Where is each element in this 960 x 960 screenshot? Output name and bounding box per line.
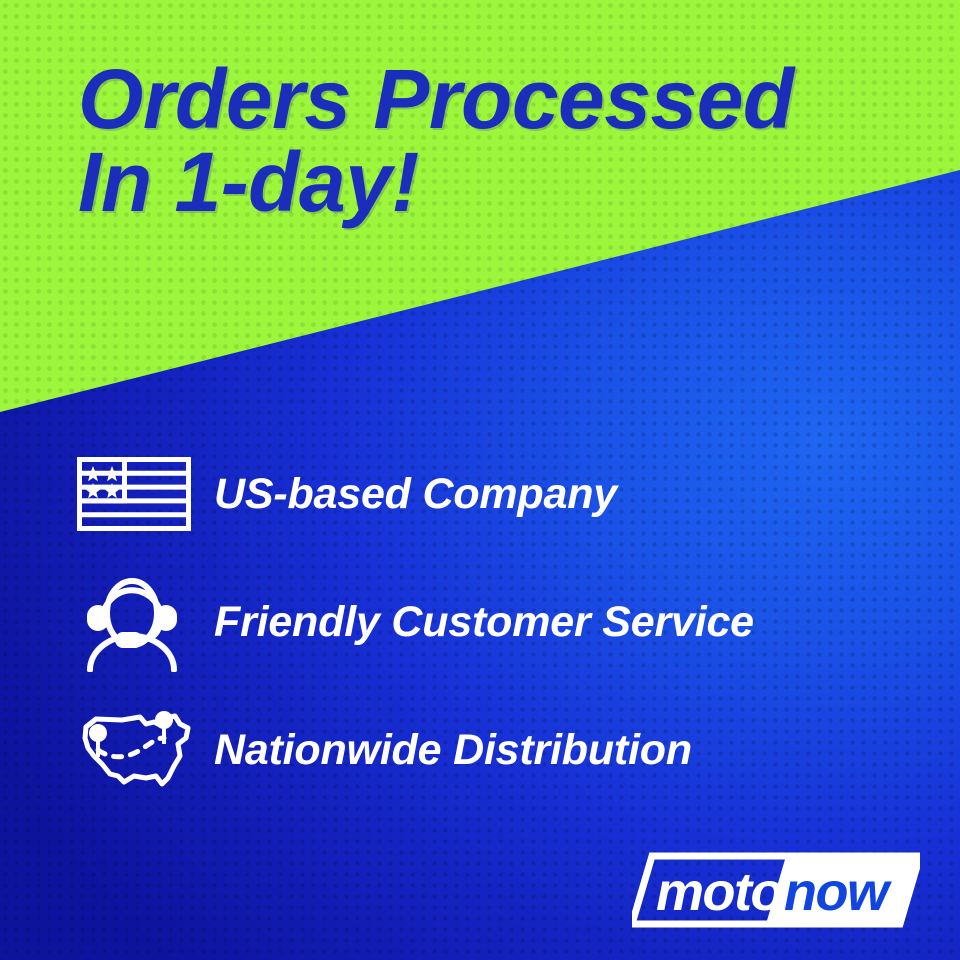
feature-label: Friendly Customer Service	[200, 598, 754, 647]
logo-text-now: now	[784, 862, 892, 922]
headset-support-icon	[72, 570, 200, 674]
promo-banner: Orders Processed In 1-day!	[0, 0, 960, 960]
us-flag-icon	[72, 442, 200, 546]
feature-list: US-based Company	[72, 430, 912, 814]
feature-item-nationwide: Nationwide Distribution	[72, 686, 912, 814]
headline: Orders Processed In 1-day!	[78, 58, 908, 224]
logo-text-moto: moto	[656, 862, 782, 922]
feature-label: Nationwide Distribution	[200, 726, 692, 775]
feature-item-us-based: US-based Company	[72, 430, 912, 558]
feature-label: US-based Company	[200, 470, 617, 519]
us-map-pins-icon	[72, 698, 200, 802]
motonow-logo: moto now	[632, 852, 920, 928]
feature-item-customer-service: Friendly Customer Service	[72, 558, 912, 686]
